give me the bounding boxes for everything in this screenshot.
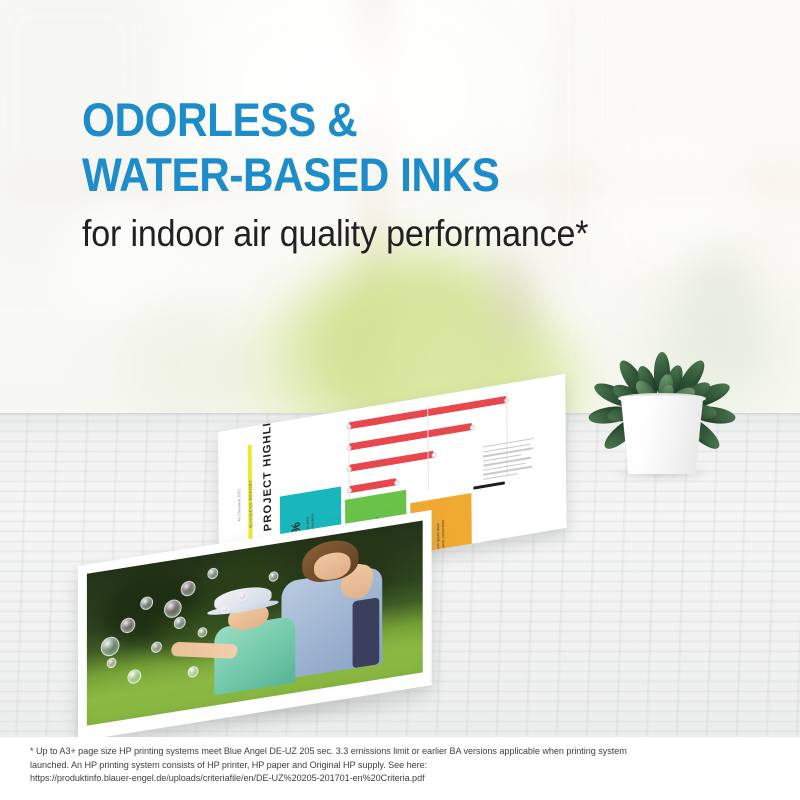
blurred-foliage [120,300,270,430]
headline-line-2: WATER-BASED INKS [82,147,676,202]
woman-bag-strap [352,597,379,668]
marketing-banner: ODORLESS & WATER-BASED INKS for indoor a… [0,0,800,800]
headline-line-1: ODORLESS & [82,92,676,147]
plant-pot [618,396,706,474]
soap-bubble [100,635,119,657]
brochure-bar [349,451,434,472]
brochure-bar [348,423,471,451]
brochure-bar-endpoint [394,479,399,485]
brochure-tag: An Overview 2021 [236,488,241,522]
blurred-object [498,250,526,345]
child-arm [170,642,238,659]
succulent-plant [596,312,728,472]
footnote-line-1: * Up to A3+ page size HP printing system… [30,745,772,759]
brochure-bar [349,478,396,493]
brochure-gridline [427,405,429,490]
brochure-stat-caption: Lorem ipsum dolor sit amet consectetur [436,503,446,553]
brochure-dark-rule [473,481,505,490]
brochure-body-text [483,438,537,484]
brochure-kicker: BUSINESS REPORT [248,479,253,528]
brochure-gridline [348,418,350,503]
footnote-line-2: launched. An HP printing system consists… [30,759,772,773]
headline-block: ODORLESS & WATER-BASED INKS for indoor a… [82,92,742,258]
footnote-block: * Up to A3+ page size HP printing system… [0,737,800,800]
brochure-bar-endpoint [470,424,475,430]
brochure-bar-endpoint [432,452,437,458]
footnote-url: https://produktinfo.blauer-engel.de/uplo… [30,772,772,786]
headline-subline: for indoor air quality performance* [82,210,689,258]
